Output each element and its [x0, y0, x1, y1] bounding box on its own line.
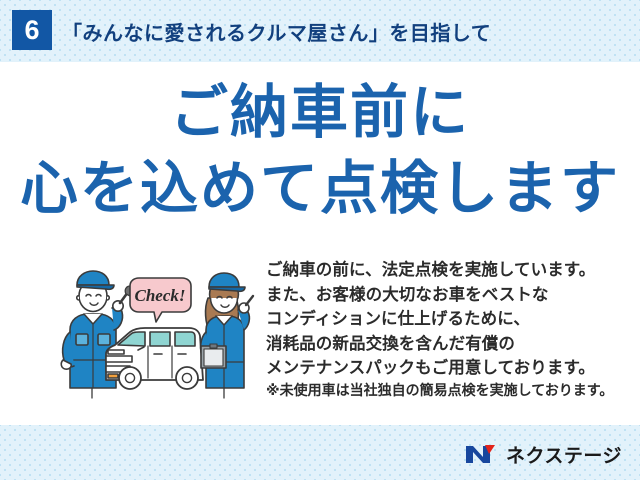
body-copy: ご納車の前に、法定点検を実施しています。 また、お客様の大切なお車をベストな コ…: [266, 258, 638, 381]
mechanic-right-figure: [201, 273, 253, 398]
body-line-4: 消耗品の新品交換を含んだ有償の: [266, 332, 638, 357]
body-line-5: メンテナンスパックもご用意しております。: [266, 356, 638, 381]
promo-card: 6 「みんなに愛されるクルマ屋さん」を目指して ご納車前に 心を込めて点検します: [0, 0, 640, 480]
headline: ご納車前に 心を込めて点検します: [0, 84, 640, 218]
body-line-2: また、お客様の大切なお車をベストな: [266, 283, 638, 308]
nextage-logo-text: ネクステージ: [506, 441, 622, 468]
step-number-badge: 6: [12, 10, 52, 50]
nextage-logo-mark: [465, 442, 499, 466]
nextage-logo: ネクステージ: [465, 441, 622, 467]
van-illustration: [106, 328, 203, 389]
check-bubble-label: Check!: [135, 286, 186, 305]
body-line-3: コンディションに仕上げるために、: [266, 307, 638, 332]
body-note: ※未使用車は当社独自の簡易点検を実施しております。: [266, 381, 640, 399]
headline-line-1: ご納車前に: [0, 84, 640, 142]
headline-line-2: 心を込めて点検します: [0, 160, 640, 218]
mechanics-illustration: Check!: [58, 268, 258, 400]
page-title: 「みんなに愛されるクルマ屋さん」を目指して: [62, 17, 491, 46]
body-line-1: ご納車の前に、法定点検を実施しています。: [266, 258, 638, 283]
